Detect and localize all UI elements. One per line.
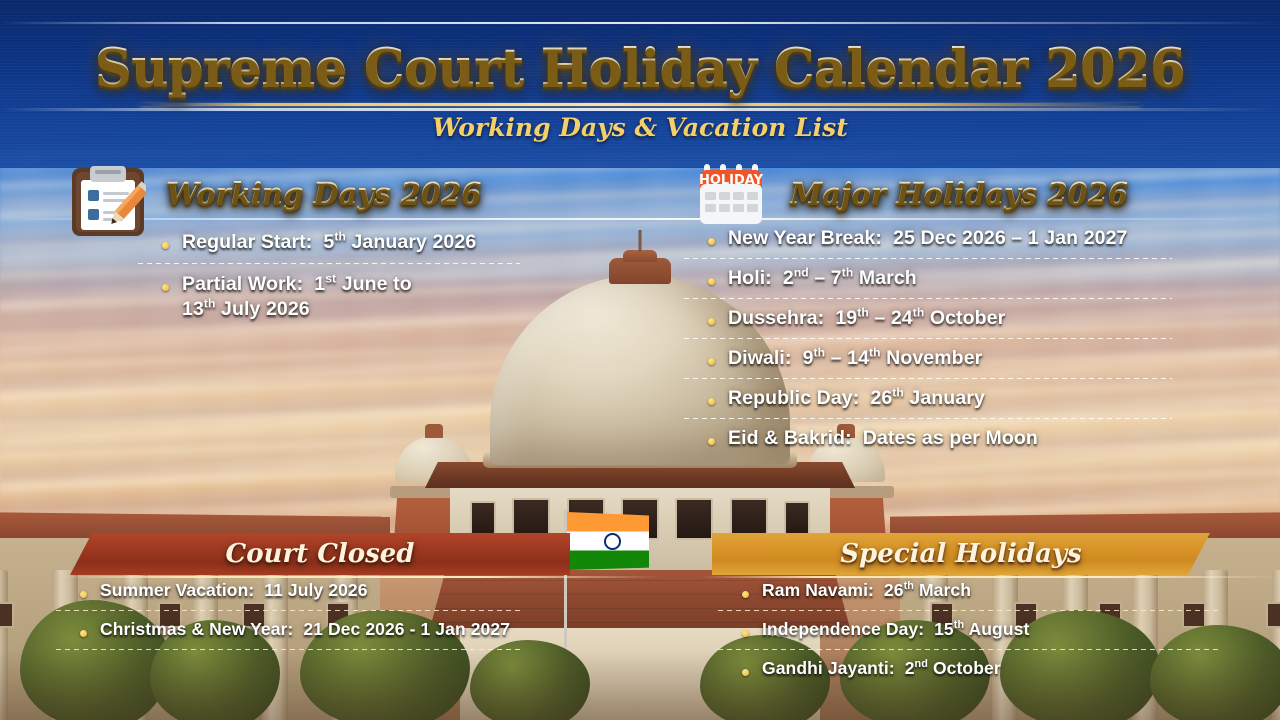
item-label: Holi:	[728, 267, 772, 289]
bullet-icon	[80, 630, 87, 637]
header-streak-top	[0, 22, 1280, 24]
working-days-list: Regular Start: 5th January 2026 Partial …	[160, 230, 630, 322]
item-value: 15th August	[929, 619, 1029, 639]
item-value: 25 Dec 2026 – 1 Jan 2027	[888, 227, 1128, 249]
item-value: 9th – 14th November	[797, 347, 982, 369]
separator-wrap	[718, 610, 1260, 611]
header-streak-under-rule	[0, 108, 1280, 111]
court-closed-underline	[60, 576, 660, 578]
item-value: 26th March	[879, 580, 971, 600]
bullet-icon	[708, 358, 715, 365]
working-days-section: Working Days 2026 Regular Start: 5th Jan…	[70, 168, 630, 322]
court-closed-section: Summer Vacation: 11 July 2026 Christmas …	[78, 580, 638, 650]
item-label: Republic Day:	[728, 387, 859, 409]
bullet-icon	[742, 591, 749, 598]
item-separator	[718, 649, 1218, 650]
item-separator	[684, 258, 1172, 259]
court-closed-list: Summer Vacation: 11 July 2026 Christmas …	[78, 580, 638, 650]
infographic-canvas: Supreme Court Holiday Calendar 2026 Work…	[0, 0, 1280, 720]
item-separator	[684, 418, 1172, 419]
item-separator	[684, 298, 1172, 299]
calendar-icon-text: HOLIDAY	[699, 173, 764, 188]
separator-wrap	[684, 418, 1258, 419]
list-item: Partial Work: 1st June to13th July 2026	[160, 272, 630, 322]
item-label: Gandhi Jayanti:	[762, 658, 895, 678]
list-item: Independence Day: 15th August	[740, 619, 1260, 641]
item-label: Eid & Bakrid:	[728, 427, 852, 449]
clipboard-pencil-icon	[70, 164, 146, 238]
major-holidays-list: New Year Break: 25 Dec 2026 – 1 Jan 2027…	[706, 226, 1258, 451]
separator-wrap	[684, 378, 1258, 379]
item-separator	[56, 610, 524, 611]
item-label: Summer Vacation:	[100, 580, 254, 600]
item-value: 26th January	[865, 387, 985, 409]
bullet-icon	[708, 318, 715, 325]
item-value: 2nd October	[900, 658, 1001, 678]
bullet-icon	[162, 242, 169, 249]
bullet-icon	[80, 591, 87, 598]
bullet-icon	[742, 669, 749, 676]
item-label: Independence Day:	[762, 619, 924, 639]
dome-spire	[639, 230, 642, 252]
page-subtitle: Working Days & Vacation List	[0, 113, 1280, 142]
list-item: Republic Day: 26th January	[706, 386, 1258, 411]
item-value: 11 July 2026	[259, 580, 367, 600]
court-closed-banner: Court Closed	[70, 533, 570, 575]
separator-wrap	[718, 649, 1260, 650]
item-label: Christmas & New Year:	[100, 619, 293, 639]
item-value: 5th January 2026	[318, 231, 476, 253]
bullet-icon	[162, 284, 169, 291]
item-separator	[56, 649, 524, 650]
item-label: Partial Work:	[182, 273, 303, 295]
list-item: Eid & Bakrid: Dates as per Moon	[706, 426, 1258, 451]
court-closed-title: Court Closed	[226, 539, 415, 569]
separator-wrap	[56, 649, 638, 650]
special-holidays-section: Ram Navami: 26th March Independence Day:…	[740, 580, 1260, 680]
separator-wrap	[684, 338, 1258, 339]
separator-wrap	[684, 298, 1258, 299]
item-label: New Year Break:	[728, 227, 882, 249]
special-holidays-title: Special Holidays	[840, 539, 1081, 569]
list-item: Dussehra: 19th – 24th October	[706, 306, 1258, 331]
item-separator	[684, 378, 1172, 379]
list-item: Ram Navami: 26th March	[740, 580, 1260, 602]
separator-wrap	[138, 263, 630, 264]
page-title: Supreme Court Holiday Calendar 2026	[0, 38, 1280, 98]
list-item: Christmas & New Year: 21 Dec 2026 - 1 Ja…	[78, 619, 638, 641]
major-holidays-section: HOLIDAY Major Holidays 2026 New Year Bre…	[698, 168, 1258, 451]
working-days-header: Working Days 2026	[70, 168, 630, 224]
ashoka-chakra-icon	[604, 533, 621, 550]
list-item: Holi: 2nd – 7th March	[706, 266, 1258, 291]
item-value: 21 Dec 2026 - 1 Jan 2027	[298, 619, 510, 639]
item-separator	[138, 263, 520, 264]
special-holidays-banner: Special Holidays	[712, 533, 1210, 575]
bullet-icon	[742, 630, 749, 637]
bullet-icon	[708, 278, 715, 285]
special-holidays-list: Ram Navami: 26th March Independence Day:…	[740, 580, 1260, 680]
holiday-calendar-icon: HOLIDAY	[698, 162, 768, 228]
list-item: New Year Break: 25 Dec 2026 – 1 Jan 2027	[706, 226, 1258, 251]
list-item: Regular Start: 5th January 2026	[160, 230, 630, 255]
bullet-icon	[708, 438, 715, 445]
item-label: Ram Navami:	[762, 580, 874, 600]
list-item: Gandhi Jayanti: 2nd October	[740, 658, 1260, 680]
bullet-icon	[708, 398, 715, 405]
item-label: Dussehra:	[728, 307, 824, 329]
item-label: Regular Start:	[182, 231, 312, 253]
item-value: 2nd – 7th March	[777, 267, 916, 289]
major-holidays-header: HOLIDAY Major Holidays 2026	[698, 168, 1258, 224]
working-days-title: Working Days 2026	[166, 176, 481, 210]
bullet-icon	[708, 238, 715, 245]
item-label: Diwali:	[728, 347, 792, 369]
special-holidays-underline	[700, 576, 1280, 578]
separator-wrap	[56, 610, 638, 611]
item-separator	[718, 610, 1218, 611]
item-separator	[684, 338, 1172, 339]
separator-wrap	[684, 258, 1258, 259]
list-item: Summer Vacation: 11 July 2026	[78, 580, 638, 602]
major-holidays-title: Major Holidays 2026	[790, 176, 1128, 210]
item-value: Dates as per Moon	[857, 427, 1038, 449]
list-item: Diwali: 9th – 14th November	[706, 346, 1258, 371]
item-value: 19th – 24th October	[830, 307, 1006, 329]
title-gold-rule	[140, 103, 1140, 106]
